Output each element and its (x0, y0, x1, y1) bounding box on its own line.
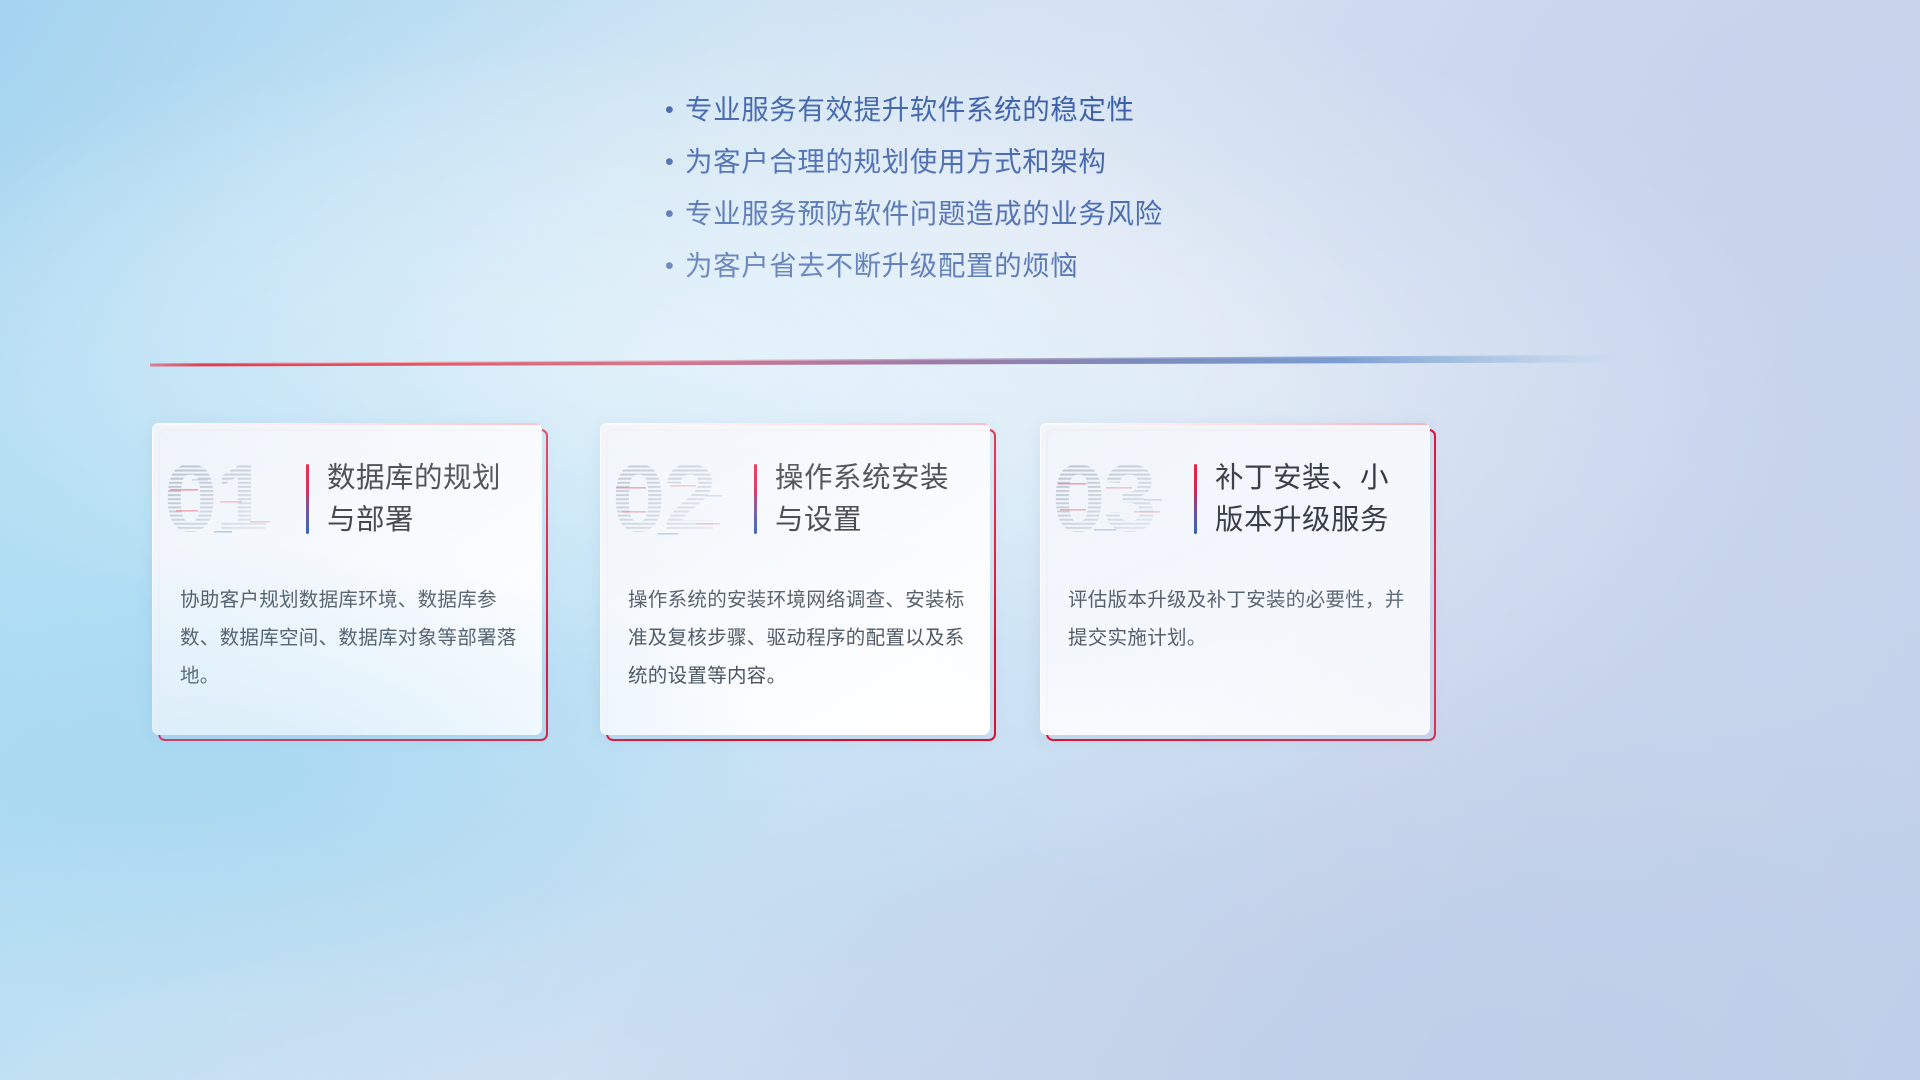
card-surface: 03 补丁安装、小版本升级服务 评估版本升级及补丁安装的必要性， (1040, 423, 1430, 735)
bullet-dot-icon: • (663, 246, 685, 286)
card-header: 03 补丁安装、小版本升级服务 (1040, 445, 1430, 553)
card-title: 补丁安装、小版本升级服务 (1215, 457, 1415, 541)
bullet-dot-icon: • (663, 194, 685, 234)
section-divider (150, 342, 1640, 376)
service-card-02[interactable]: 02 操作系统安装与设置 操作系统的安装环境网络调查、安装标准及 (600, 423, 990, 735)
card-title-rule (1194, 464, 1197, 534)
card-surface: 01 数据库的规划与部署 协助客户 (152, 423, 542, 735)
service-card-01[interactable]: 01 数据库的规划与部署 协助客户 (152, 423, 542, 735)
benefits-bullet-list: • 专业服务有效提升软件系统的稳定性 • 为客户合理的规划使用方式和架构 • 专… (663, 90, 1443, 298)
service-card-03[interactable]: 03 补丁安装、小版本升级服务 评估版本升级及补丁安装的必要性， (1040, 423, 1430, 735)
card-title: 操作系统安装与设置 (775, 457, 975, 541)
card-number-striped: 02 (610, 449, 754, 549)
bullet-text: 为客户省去不断升级配置的烦恼 (685, 246, 1078, 286)
service-card-row: 01 数据库的规划与部署 协助客户 (152, 423, 1572, 748)
card-header: 02 操作系统安装与设置 (600, 445, 990, 553)
card-header: 01 数据库的规划与部署 (152, 445, 542, 553)
bullet-dot-icon: • (663, 90, 685, 130)
list-item: • 专业服务预防软件问题造成的业务风险 (663, 194, 1443, 246)
bullet-text: 专业服务有效提升软件系统的稳定性 (685, 90, 1135, 130)
list-item: • 专业服务有效提升软件系统的稳定性 (663, 90, 1443, 142)
card-description: 评估版本升级及补丁安装的必要性，并提交实施计划。 (1068, 581, 1408, 657)
card-number-striped: 01 (162, 449, 306, 549)
card-description: 操作系统的安装环境网络调查、安装标准及复核步骤、驱动程序的配置以及系统的设置等内… (628, 581, 968, 695)
bullet-text: 专业服务预防软件问题造成的业务风险 (685, 194, 1163, 234)
card-title-rule (306, 464, 309, 534)
card-surface: 02 操作系统安装与设置 操作系统的安装环境网络调查、安装标准及 (600, 423, 990, 735)
bullet-text: 为客户合理的规划使用方式和架构 (685, 142, 1107, 182)
slide-canvas: • 专业服务有效提升软件系统的稳定性 • 为客户合理的规划使用方式和架构 • 专… (0, 0, 1920, 1080)
card-description: 协助客户规划数据库环境、数据库参数、数据库空间、数据库对象等部署落地。 (180, 581, 520, 695)
card-title-rule (754, 464, 757, 534)
card-number-striped: 03 (1050, 449, 1194, 549)
bullet-dot-icon: • (663, 142, 685, 182)
list-item: • 为客户省去不断升级配置的烦恼 (663, 246, 1443, 298)
svg-text:01: 01 (164, 449, 267, 549)
card-title: 数据库的规划与部署 (327, 457, 527, 541)
list-item: • 为客户合理的规划使用方式和架构 (663, 142, 1443, 194)
svg-text:03: 03 (1052, 449, 1155, 549)
